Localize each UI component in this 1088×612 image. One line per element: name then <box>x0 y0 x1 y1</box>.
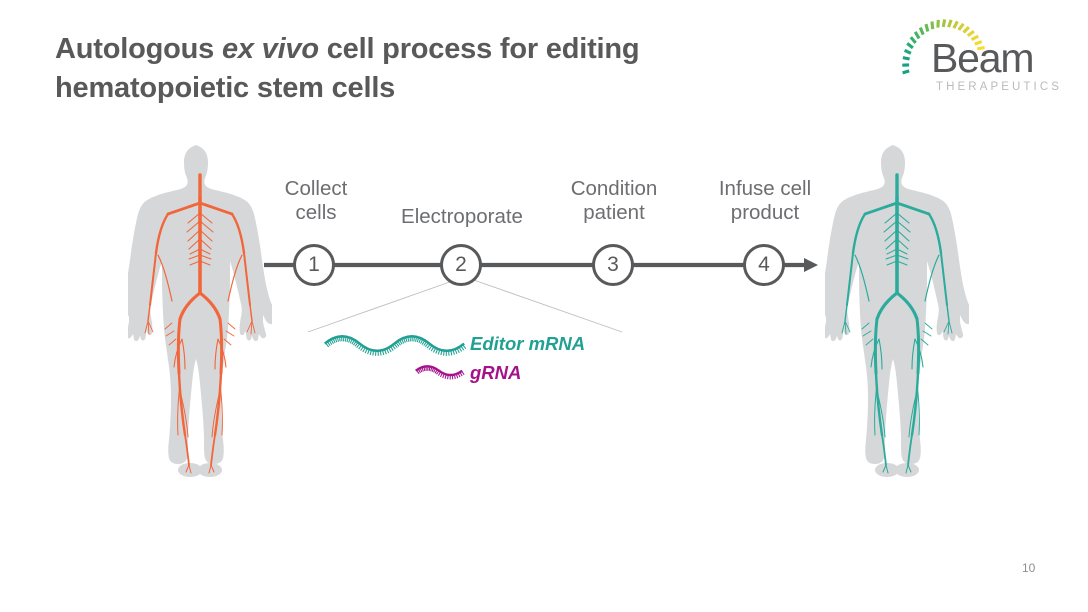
step-label-collect-cells: Collectcells <box>266 177 366 225</box>
step-label-condition-patient: Conditionpatient <box>562 177 666 225</box>
page-title: Autologous ex vivo cell process for edit… <box>55 30 785 108</box>
step-circle-3[interactable]: 3 <box>592 244 634 286</box>
step-circle-4[interactable]: 4 <box>743 244 785 286</box>
step-label-electroporate: Electroporate <box>386 205 538 229</box>
step-circle-1[interactable]: 1 <box>293 244 335 286</box>
step-circle-2[interactable]: 2 <box>440 244 482 286</box>
logo-subtitle: THERAPEUTICS <box>936 82 1062 94</box>
step-label-infuse-cell-product: Infuse cellproduct <box>705 177 825 225</box>
grna-strand-icon <box>416 366 464 379</box>
patient-figure-before <box>128 143 272 478</box>
payload-label-grna: gRNA <box>470 364 521 383</box>
page-number: 10 <box>1022 561 1035 575</box>
patient-figure-after <box>825 143 969 478</box>
title-text-italic: ex vivo <box>222 33 319 65</box>
beam-therapeutics-logo: Beam THERAPEUTICS <box>898 16 1046 92</box>
logo-wordmark: Beam <box>931 38 1033 79</box>
editor-mrna-strand-icon <box>325 336 466 356</box>
title-text-post: cell process for editing <box>319 33 640 65</box>
process-arrow <box>262 240 822 290</box>
title-text-pre: Autologous <box>55 33 222 65</box>
payload-label-editor-mrna: Editor mRNA <box>470 335 585 354</box>
title-line-two: hematopoietic stem cells <box>55 69 785 108</box>
